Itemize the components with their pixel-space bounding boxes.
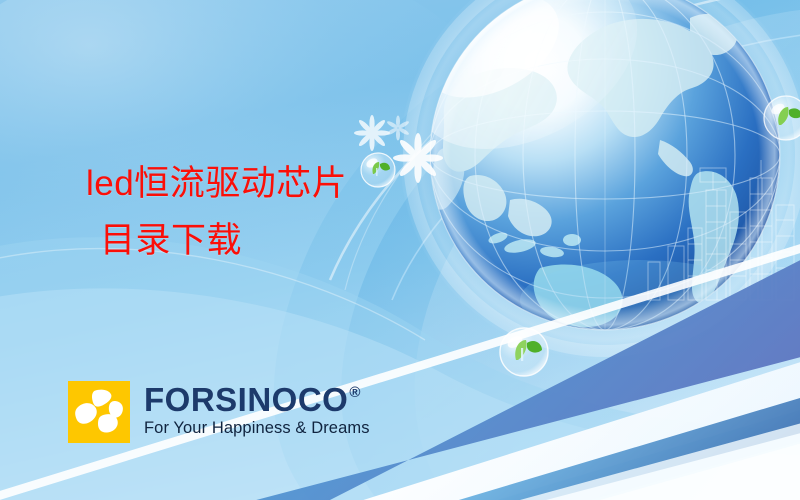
page-title: led恒流驱动芯片 目录下载 (86, 163, 347, 262)
registered-mark-icon: ® (349, 385, 360, 400)
brand-logo[interactable]: FORSINOCO ® For Your Happiness & Dreams (68, 381, 370, 443)
title-line-1: led恒流驱动芯片 (86, 163, 347, 206)
brand-text: FORSINOCO ® For Your Happiness & Dreams (144, 381, 370, 438)
brand-tagline: For Your Happiness & Dreams (144, 419, 370, 438)
title-line-2: 目录下载 (86, 220, 347, 263)
brand-name: FORSINOCO (144, 383, 348, 416)
banner-canvas: led恒流驱动芯片 目录下载 FORSINOCO ® For Your Happ… (0, 0, 800, 500)
four-petal-flower-icon (68, 381, 130, 443)
